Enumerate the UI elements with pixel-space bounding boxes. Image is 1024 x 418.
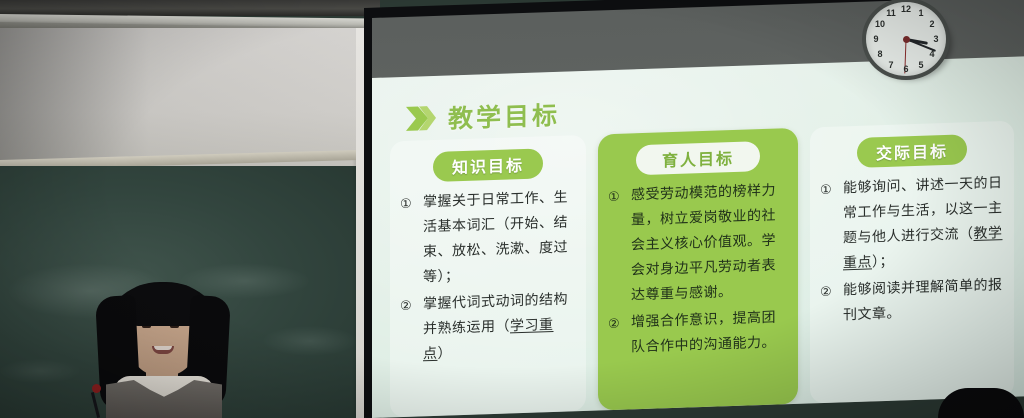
- presenter: [72, 280, 262, 418]
- item-text: 增强合作意识，提高团队合作中的沟通能力。: [631, 305, 788, 360]
- goal-list-knowledge: ① 掌握关于日常工作、生活基本词汇（开始、结束、放松、洗漱、度过等）； ② 掌握…: [400, 185, 576, 368]
- clock-center-pin: [903, 36, 910, 43]
- page-title: 教学目标: [448, 96, 560, 136]
- item-number: ①: [820, 177, 837, 278]
- clock-numeral: 1: [918, 8, 923, 18]
- clock-face: 121234567891011: [862, 0, 950, 80]
- slide-title-row: 教学目标: [406, 96, 560, 137]
- clock-numeral: 10: [875, 19, 885, 29]
- double-chevron-icon: [406, 105, 436, 132]
- goal-list-people: ① 感受劳动模范的榜样力量，树立爱岗敬业的社会主义核心价值观。学会对身边平凡劳动…: [608, 178, 788, 361]
- list-item: ② 掌握代词式动词的结构并熟练运用（学习重点）: [400, 287, 576, 368]
- list-item: ① 掌握关于日常工作、生活基本词汇（开始、结束、放松、洗漱、度过等）；: [400, 185, 576, 291]
- clock-numeral: 2: [929, 19, 934, 29]
- microphone-stand: [91, 392, 100, 418]
- item-text: 能够询问、讲述一天的日常工作与生活，以这一主题与他人进行交流（教学重点）；: [843, 171, 1004, 276]
- goal-card-communication: 交际目标 ① 能够询问、讲述一天的日常工作与生活，以这一主题与他人进行交流（教学…: [810, 121, 1014, 404]
- clock-numeral: 11: [886, 8, 896, 18]
- clock-numeral: 7: [888, 60, 893, 70]
- list-item: ① 能够询问、讲述一天的日常工作与生活，以这一主题与他人进行交流（教学重点）；: [820, 171, 1004, 277]
- clock-numeral: 6: [903, 64, 908, 74]
- clock-numeral: 3: [933, 34, 938, 44]
- goal-card-knowledge: 知识目标 ① 掌握关于日常工作、生活基本词汇（开始、结束、放松、洗漱、度过等）；…: [390, 135, 586, 418]
- goal-card-people: 育人目标 ① 感受劳动模范的榜样力量，树立爱岗敬业的社会主义核心价值观。学会对身…: [598, 128, 798, 411]
- item-number: ②: [400, 293, 417, 369]
- list-item: ② 能够阅读并理解简单的报刊文章。: [820, 273, 1004, 329]
- item-number: ①: [400, 191, 417, 292]
- item-number: ①: [608, 184, 625, 310]
- goal-pill-knowledge: 知识目标: [433, 148, 543, 182]
- clock-numeral: 12: [901, 4, 911, 14]
- foreground-student-head: [938, 388, 1024, 418]
- list-item: ② 增强合作意识，提高团队合作中的沟通能力。: [608, 305, 788, 361]
- goal-pill-people: 育人目标: [636, 141, 760, 175]
- teeth: [154, 346, 172, 350]
- clock-numeral: 9: [873, 34, 878, 44]
- item-number: ②: [820, 279, 837, 330]
- microphone-icon: [92, 384, 101, 393]
- ceiling-beam: [0, 0, 380, 16]
- classroom-lecture-photo: 教学目标 知识目标 ① 掌握关于日常工作、生活基本词汇（开始、结束、放松、洗漱、…: [0, 0, 1024, 418]
- list-item: ① 感受劳动模范的榜样力量，树立爱岗敬业的社会主义核心价值观。学会对身边平凡劳动…: [608, 178, 788, 309]
- goal-columns: 知识目标 ① 掌握关于日常工作、生活基本词汇（开始、结束、放松、洗漱、度过等）；…: [390, 121, 1014, 418]
- presentation-slide: 教学目标 知识目标 ① 掌握关于日常工作、生活基本词汇（开始、结束、放松、洗漱、…: [372, 56, 1024, 418]
- clock-numeral: 8: [878, 49, 883, 59]
- clock-numeral: 5: [918, 60, 923, 70]
- item-number: ②: [608, 311, 625, 362]
- wall-shadow: [0, 28, 372, 168]
- goal-pill-communication: 交际目标: [857, 134, 967, 168]
- item-text: 能够阅读并理解简单的报刊文章。: [843, 273, 1004, 328]
- item-text: 掌握代词式动词的结构并熟练运用（学习重点）: [423, 287, 576, 367]
- item-text: 感受劳动模范的榜样力量，树立爱岗敬业的社会主义核心价值观。学会对身边平凡劳动者表…: [631, 178, 788, 308]
- goal-list-communication: ① 能够询问、讲述一天的日常工作与生活，以这一主题与他人进行交流（教学重点）； …: [820, 171, 1004, 329]
- wall-clock: 121234567891011: [862, 2, 954, 80]
- clock-numeral: 4: [929, 49, 934, 59]
- item-text: 掌握关于日常工作、生活基本词汇（开始、结束、放松、洗漱、度过等）；: [423, 185, 576, 290]
